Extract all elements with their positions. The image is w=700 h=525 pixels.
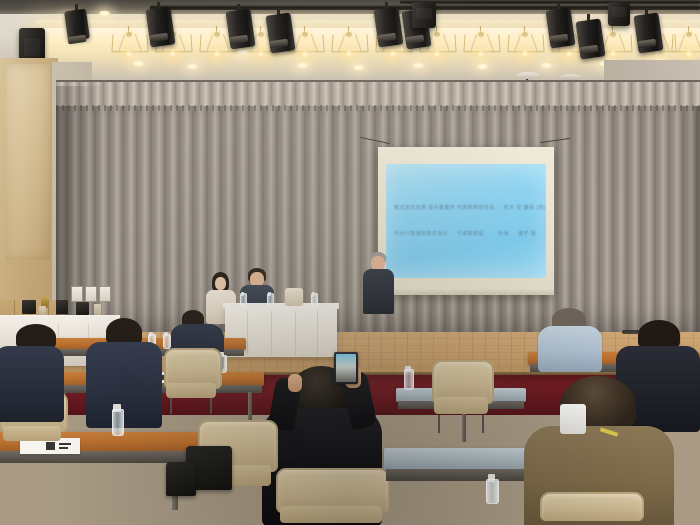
stage-spotlight-icon: [148, 2, 170, 42]
pendant-light-icon: [112, 26, 146, 56]
downlight-icon: [296, 62, 309, 69]
water-bottle: [311, 292, 316, 306]
banquet-chair: [164, 348, 218, 408]
stage-spotlight-icon: [548, 3, 570, 43]
downlight-icon: [132, 60, 145, 67]
banquet-chair: [276, 468, 386, 525]
face-mask: [560, 404, 586, 434]
photographer-hand: [288, 374, 302, 392]
banquet-chair: [432, 360, 490, 424]
paper-cup: [94, 304, 101, 315]
water-bottle: [486, 474, 497, 504]
smartphone-screen: [336, 354, 356, 382]
display-box: [56, 300, 68, 314]
speaker-icon: [412, 2, 436, 28]
water-bottle: [240, 292, 245, 306]
banquet-chair: [540, 492, 640, 525]
audience-member-suit: [0, 324, 64, 420]
pendant-light-icon: [508, 26, 542, 56]
downlight-icon: [236, 48, 249, 55]
downlight-icon: [476, 63, 489, 70]
paper-cup: [39, 306, 46, 315]
black-bag: [166, 462, 196, 496]
slide-text-line-2: 代光川菱運所株式会社 代表取締役 社長 渡平 強: [394, 230, 536, 237]
water-bottle: [163, 332, 169, 349]
water-bottle: [112, 404, 122, 436]
pendant-light-icon: [464, 26, 498, 56]
stage-spotlight-icon: [66, 4, 88, 44]
downlight-icon: [352, 64, 365, 71]
downlight-icon: [98, 10, 111, 17]
stage-spotlight-icon: [636, 8, 658, 48]
stage-spotlight-icon: [578, 14, 600, 54]
projection-screen-surface: 株式会社友菱 遠与産業所 代表取締役社長 ： 松木 宏 課長 (田) 代光川菱運…: [386, 164, 546, 278]
stage-spotlight-icon: [228, 4, 250, 44]
projection-screen-bottom-bar: [378, 288, 554, 295]
water-bottle: [267, 292, 272, 306]
display-card: [85, 286, 97, 302]
downlight-icon: [540, 62, 553, 69]
audience-member-blue-shirt: [538, 308, 602, 370]
eyeglasses-icon: [622, 330, 640, 334]
stage-spotlight-icon: [376, 2, 398, 42]
downlight-icon: [412, 62, 425, 69]
ceiling-disc: [516, 72, 540, 79]
beige-canister: [285, 288, 303, 306]
downlight-icon: [186, 63, 199, 70]
curtain-valance: [56, 80, 700, 106]
audience-member-suit: [86, 318, 162, 428]
smartphone[interactable]: [334, 352, 358, 384]
left-wall-inset: [6, 64, 50, 260]
table-leg: [248, 392, 252, 420]
standing-speaker: [368, 252, 398, 352]
water-bottle: [404, 366, 412, 390]
display-box: [76, 302, 89, 315]
speaker-icon: [608, 2, 630, 26]
display-card: [99, 286, 111, 302]
pendant-light-icon: [332, 26, 366, 56]
stage-spotlight-icon: [268, 8, 290, 48]
display-card: [71, 286, 83, 302]
conference-hall-photo: 株式会社友菱 遠与産業所 代表取締役社長 ： 松木 宏 課長 (田) 代光川菱運…: [0, 0, 700, 525]
pendant-light-icon: [672, 26, 700, 56]
slide-text-line-1: 株式会社友菱 遠与産業所 代表取締役社長 ： 松木 宏 課長 (田): [394, 204, 546, 211]
display-box: [22, 300, 36, 314]
